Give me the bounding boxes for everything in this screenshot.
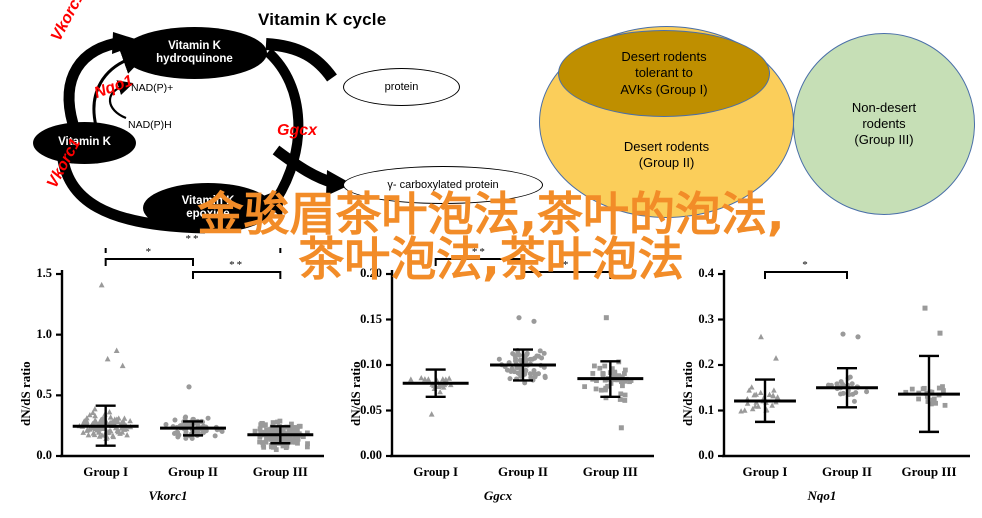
chart-plot-ggcx	[330, 248, 666, 518]
data-point	[597, 366, 602, 371]
figure-canvas: Vitamin K cycle Vitamin K hy	[0, 0, 982, 518]
data-point	[274, 437, 279, 442]
data-point-outlier	[186, 384, 191, 389]
node-protein-label: protein	[385, 81, 419, 93]
data-point	[127, 418, 133, 423]
chart-vkorc1: 0.00.51.01.5Group IGroup IIGroup III****…	[0, 248, 336, 518]
data-point	[916, 397, 921, 402]
data-point	[594, 387, 599, 392]
data-point	[543, 375, 548, 380]
rodent-groups-panel: Desert rodents (Group II) Desert rodents…	[530, 8, 982, 233]
data-point	[941, 388, 946, 393]
ellipse-tolerant-rodents-group-i: Desert rodents tolerant to AVKs (Group I…	[558, 30, 770, 117]
data-point	[497, 357, 502, 362]
data-point	[437, 389, 443, 394]
y-axis-title: dN/dS ratio	[18, 361, 34, 426]
y-axis-title: dN/dS ratio	[680, 361, 696, 426]
node-vitamin-k-hydroquinone: Vitamin K hydroquinone	[122, 27, 267, 79]
data-point	[261, 445, 266, 450]
data-point	[275, 420, 280, 425]
data-point	[206, 416, 211, 421]
node-protein: protein	[343, 68, 460, 106]
data-point	[864, 389, 869, 394]
data-point-outlier	[619, 425, 624, 430]
data-point	[943, 403, 948, 408]
chart-nqo1: 0.00.10.20.30.4Group IGroup IIGroup III*…	[662, 248, 982, 518]
data-point	[175, 430, 180, 435]
data-point	[524, 352, 529, 357]
chart-plot-nqo1	[662, 248, 982, 518]
data-point-outlier	[758, 334, 764, 340]
node-vitamin-k-epoxide: Vitamin K epoxide	[143, 183, 273, 233]
circle-non-desert-rodents-group-iii: Non-desert rodents (Group III)	[793, 33, 975, 215]
data-point	[508, 376, 513, 381]
data-point	[513, 358, 518, 363]
y-axis-title: dN/dS ratio	[348, 361, 364, 426]
significance-bracket	[106, 248, 281, 253]
data-point-outlier	[120, 363, 126, 369]
data-point	[253, 429, 258, 434]
data-point-outlier	[773, 355, 779, 361]
data-point	[850, 381, 855, 386]
significance-bracket	[523, 272, 610, 279]
data-point	[771, 387, 777, 392]
data-point	[852, 399, 857, 404]
data-point-outlier	[531, 319, 536, 324]
data-point-outlier	[114, 347, 120, 353]
data-point	[272, 445, 277, 450]
chart-gene-caption: Vkorc1	[0, 488, 336, 504]
cofactor-nadph-reduced: NAD(P)H	[128, 119, 172, 131]
data-point	[775, 394, 781, 399]
data-point	[834, 381, 839, 386]
scatter-charts-row: 0.00.51.01.5Group IGroup IIGroup III****…	[0, 248, 982, 518]
data-point	[623, 393, 628, 398]
data-point	[582, 384, 587, 389]
data-point	[426, 376, 432, 381]
data-point	[108, 414, 114, 419]
data-point-outlier	[840, 331, 845, 336]
data-point	[539, 355, 544, 360]
data-point-outlier	[105, 356, 111, 362]
cofactor-nadp-oxidized: NAD(P)+	[131, 82, 173, 94]
data-point	[602, 364, 607, 369]
data-point-outlier	[938, 331, 943, 336]
data-point	[163, 422, 168, 427]
data-point	[259, 421, 264, 426]
data-point-outlier	[516, 315, 521, 320]
data-point	[284, 444, 289, 449]
data-point	[294, 425, 299, 430]
data-point	[542, 351, 547, 356]
significance-bracket	[436, 259, 523, 266]
gene-label-ggcx: Ggcx	[277, 122, 317, 140]
data-point-outlier	[855, 334, 860, 339]
data-point	[758, 390, 764, 395]
data-point	[592, 364, 597, 369]
chart-plot-vkorc1	[0, 248, 336, 518]
data-point	[510, 351, 515, 356]
node-gcp-label: γ- carboxylated protein	[387, 179, 498, 191]
data-point	[618, 391, 623, 396]
data-point	[910, 387, 915, 392]
data-point	[622, 398, 627, 403]
data-point	[408, 376, 414, 381]
significance-bracket	[193, 272, 280, 279]
chart-gene-caption: Nqo1	[662, 488, 982, 504]
data-point	[531, 368, 536, 373]
data-point-outlier	[604, 315, 609, 320]
data-point-outlier	[429, 411, 435, 417]
node-vkh-label: Vitamin K hydroquinone	[156, 40, 233, 66]
data-point	[305, 445, 310, 450]
data-point	[599, 388, 604, 393]
data-point	[107, 409, 113, 414]
label-tolerant-rodents: Desert rodents tolerant to AVKs (Group I…	[620, 49, 707, 97]
chart-ggcx: 0.000.050.100.150.20Group IGroup IIGroup…	[330, 248, 666, 518]
data-point	[742, 407, 748, 412]
node-vitamin-k: Vitamin K	[33, 122, 136, 164]
data-point	[264, 440, 269, 445]
data-point	[508, 369, 513, 374]
chart-gene-caption: Ggcx	[330, 488, 666, 504]
node-vke-label: Vitamin K epoxide	[182, 195, 235, 221]
data-point	[213, 433, 218, 438]
data-point	[853, 390, 858, 395]
data-point	[528, 357, 533, 362]
data-point	[931, 398, 936, 403]
node-carboxylated-protein: γ- carboxylated protein	[343, 166, 543, 204]
significance-bracket	[106, 259, 193, 266]
label-non-desert-rodents: Non-desert rodents (Group III)	[852, 100, 916, 148]
data-point	[838, 391, 843, 396]
data-point	[271, 420, 276, 425]
data-point	[175, 434, 180, 439]
data-point	[620, 383, 625, 388]
data-point	[590, 371, 595, 376]
significance-bracket	[765, 272, 847, 279]
label-desert-rodents: Desert rodents (Group II)	[540, 139, 793, 171]
vitamin-k-cycle-panel: Vitamin K cycle Vitamin K hy	[0, 0, 540, 240]
data-point	[921, 386, 926, 391]
data-point-outlier	[99, 282, 105, 288]
data-point	[172, 418, 177, 423]
data-point	[124, 432, 130, 437]
significance-stars: **	[177, 233, 209, 245]
data-point	[536, 371, 541, 376]
data-point-outlier	[923, 306, 928, 311]
